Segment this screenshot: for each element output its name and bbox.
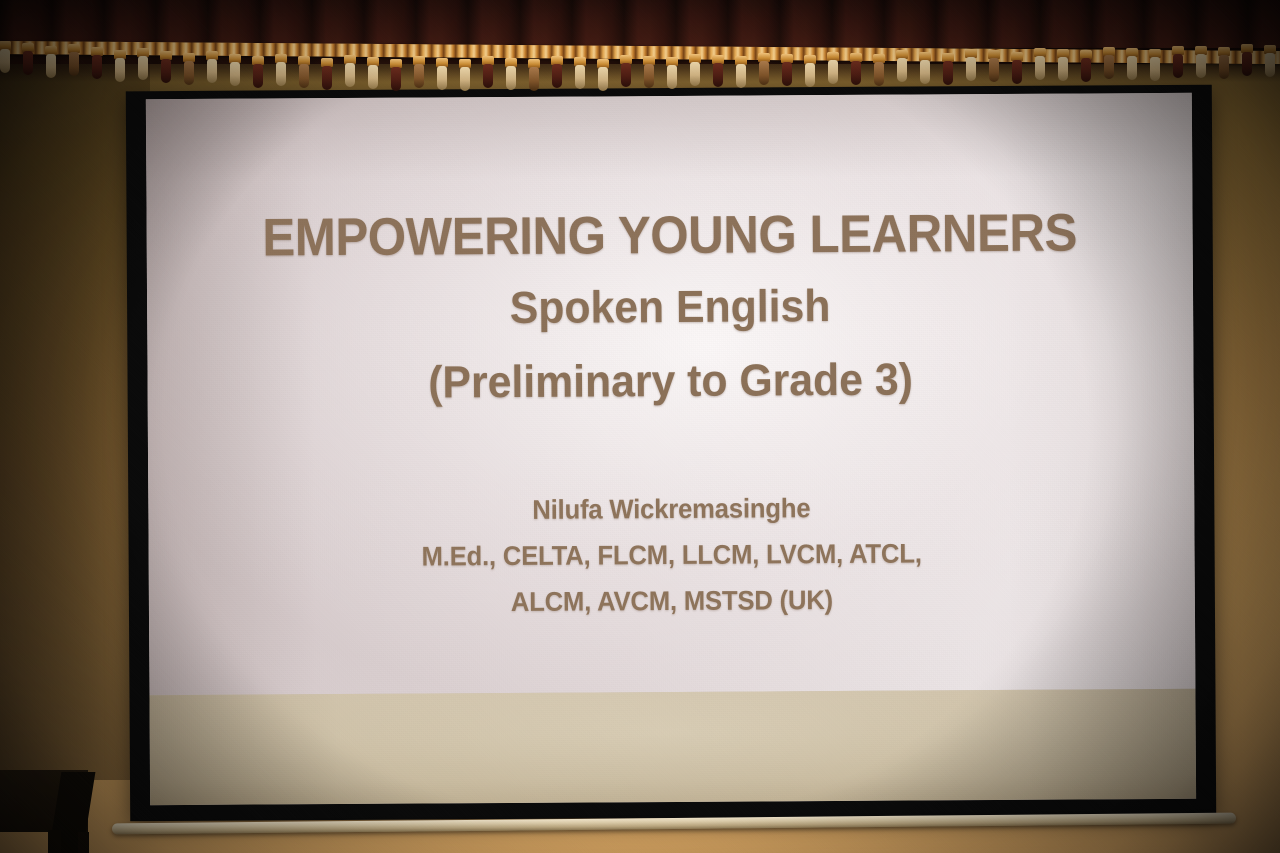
tassel-skirt (529, 67, 539, 91)
tassel-skirt (437, 66, 447, 90)
tassel (343, 55, 357, 89)
tassel (159, 51, 173, 85)
tassel-skirt (598, 67, 608, 91)
tassel (826, 52, 840, 86)
tassel-skirt (828, 60, 838, 84)
tassel (688, 54, 702, 88)
tassel-skirt (0, 49, 10, 73)
tassel-skirt (966, 57, 976, 81)
tassel (1102, 47, 1116, 81)
projection-screen-surface: EMPOWERING YOUNG LEARNERS Spoken English… (146, 93, 1196, 805)
tassel (297, 56, 311, 90)
tassel-skirt (690, 62, 700, 86)
tassel (412, 56, 426, 90)
tassel-skirt (69, 52, 79, 76)
tassel-skirt (851, 61, 861, 85)
tassel-skirt (1173, 54, 1183, 78)
tassel-skirt (805, 63, 815, 87)
tassel-skirt (1058, 57, 1068, 81)
tassel-skirt (299, 64, 309, 88)
tassel (504, 58, 518, 92)
tassel (1217, 47, 1231, 81)
tassel (228, 54, 242, 88)
tassel-fringe (0, 0, 1280, 40)
tassel (941, 53, 955, 87)
tassel (458, 59, 472, 93)
tassel (895, 50, 909, 84)
tassel-skirt (1012, 60, 1022, 84)
tassel-skirt (1127, 56, 1137, 80)
tassel (90, 47, 104, 81)
tassel (1033, 48, 1047, 82)
chair-silhouette-leg-rear (78, 832, 89, 853)
tassel-skirt (322, 66, 332, 90)
tassel (205, 51, 219, 85)
tassel-skirt (897, 58, 907, 82)
tassel-skirt (414, 64, 424, 88)
tassel-skirt (1104, 55, 1114, 79)
tassel (44, 46, 58, 80)
tassel (251, 56, 265, 90)
tassel-skirt (644, 64, 654, 88)
tassel (1171, 46, 1185, 80)
slide-content: EMPOWERING YOUNG LEARNERS Spoken English… (146, 93, 1196, 695)
slide-subtitle-line-2: (Preliminary to Grade 3) (174, 355, 1168, 406)
tassel (0, 41, 12, 75)
tassel (550, 56, 564, 90)
tassel (1125, 48, 1139, 82)
tassel-skirt (1150, 57, 1160, 81)
tassel (964, 49, 978, 83)
tassel (136, 48, 150, 82)
tassel (596, 59, 610, 93)
tassel-skirt (575, 65, 585, 89)
tassel-skirt (483, 64, 493, 88)
tassel (1079, 50, 1093, 84)
tassel (711, 55, 725, 89)
tassel (987, 50, 1001, 84)
tassel-skirt (253, 64, 263, 88)
tassel-skirt (943, 61, 953, 85)
tassel (435, 58, 449, 92)
tassel (1056, 49, 1070, 83)
photo-scene: EMPOWERING YOUNG LEARNERS Spoken English… (0, 0, 1280, 853)
tassel-skirt (276, 62, 286, 86)
tassel-skirt (207, 59, 217, 83)
tassel-skirt (989, 58, 999, 82)
tassel-skirt (138, 56, 148, 80)
tassel (872, 54, 886, 88)
tassel (573, 57, 587, 91)
tassel-skirt (345, 63, 355, 87)
tassel (734, 56, 748, 90)
tassel (665, 57, 679, 91)
slide-subtitle-line-1: Spoken English (173, 281, 1167, 332)
tassel (1194, 46, 1208, 80)
tassel (780, 54, 794, 88)
tassel-skirt (874, 62, 884, 86)
tassel-skirt (621, 63, 631, 87)
tassel (320, 58, 334, 92)
presenter-credentials-line-1: M.Ed., CELTA, FLCM, LLCM, LVCM, ATCL, (175, 537, 1169, 574)
tassel-skirt (23, 51, 33, 75)
tassel (366, 57, 380, 91)
screen-unlit-band (149, 689, 1196, 805)
slide-title: EMPOWERING YOUNG LEARNERS (183, 206, 1156, 265)
tassel-skirt (368, 65, 378, 89)
presenter-credentials-line-2: ALCM, AVCM, MSTSD (UK) (175, 583, 1169, 620)
projection-screen: EMPOWERING YOUNG LEARNERS Spoken English… (126, 85, 1216, 822)
tassel (274, 54, 288, 88)
tassel (1148, 49, 1162, 83)
tassel (642, 56, 656, 90)
tassel-skirt (759, 61, 769, 85)
tassel (1263, 45, 1277, 79)
tassel (757, 53, 771, 87)
tassel-skirt (92, 55, 102, 79)
tassel (849, 53, 863, 87)
tassel (1240, 44, 1254, 78)
tassel-skirt (506, 66, 516, 90)
tassel-skirt (713, 63, 723, 87)
tassel-skirt (1219, 55, 1229, 79)
tassel (21, 43, 35, 77)
tassel-skirt (1242, 52, 1252, 76)
tassel-skirt (736, 64, 746, 88)
tassel-skirt (1265, 53, 1275, 77)
tassel-skirt (230, 62, 240, 86)
presenter-name: Nilufa Wickremasinghe (174, 491, 1168, 528)
tassel-skirt (1081, 58, 1091, 82)
tassel-skirt (920, 60, 930, 84)
chair-silhouette-leg-front (48, 830, 61, 853)
tassel-skirt (161, 59, 171, 83)
tassel-skirt (184, 61, 194, 85)
tassel (389, 59, 403, 93)
tassel (67, 44, 81, 78)
tassel (1010, 52, 1024, 86)
tassel (182, 53, 196, 87)
tassel-skirt (667, 65, 677, 89)
tassel-skirt (1196, 54, 1206, 78)
tassel (803, 55, 817, 89)
tassel-skirt (391, 67, 401, 91)
tassel (481, 56, 495, 90)
tassel-skirt (552, 64, 562, 88)
tassel-skirt (782, 62, 792, 86)
tassel (619, 55, 633, 89)
tassel-skirt (46, 54, 56, 78)
tassel (113, 50, 127, 84)
tassel-skirt (460, 67, 470, 91)
tassel-skirt (1035, 56, 1045, 80)
tassel (918, 52, 932, 86)
tassel (527, 59, 541, 93)
tassel-skirt (115, 58, 125, 82)
